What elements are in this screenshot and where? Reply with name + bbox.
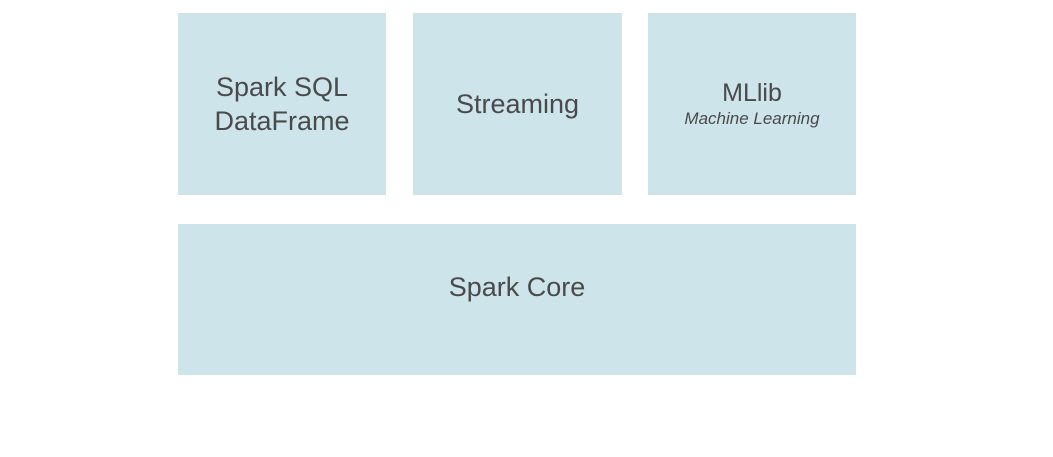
block-spark-core-title: Spark Core bbox=[449, 270, 586, 304]
block-spark-sql[interactable]: Spark SQL DataFrame bbox=[178, 13, 386, 195]
diagram-canvas: Spark SQL DataFrame Streaming MLlib Mach… bbox=[0, 0, 1053, 457]
block-mllib-title: MLlib bbox=[722, 78, 782, 108]
block-spark-core[interactable]: Spark Core bbox=[178, 224, 856, 375]
block-spark-sql-title-line2: DataFrame bbox=[214, 104, 349, 138]
block-mllib-subtitle: Machine Learning bbox=[684, 108, 819, 130]
block-mllib[interactable]: MLlib Machine Learning bbox=[648, 13, 856, 195]
block-streaming[interactable]: Streaming bbox=[413, 13, 622, 195]
block-streaming-title: Streaming bbox=[456, 87, 579, 121]
block-spark-sql-title-line1: Spark SQL bbox=[216, 70, 348, 104]
